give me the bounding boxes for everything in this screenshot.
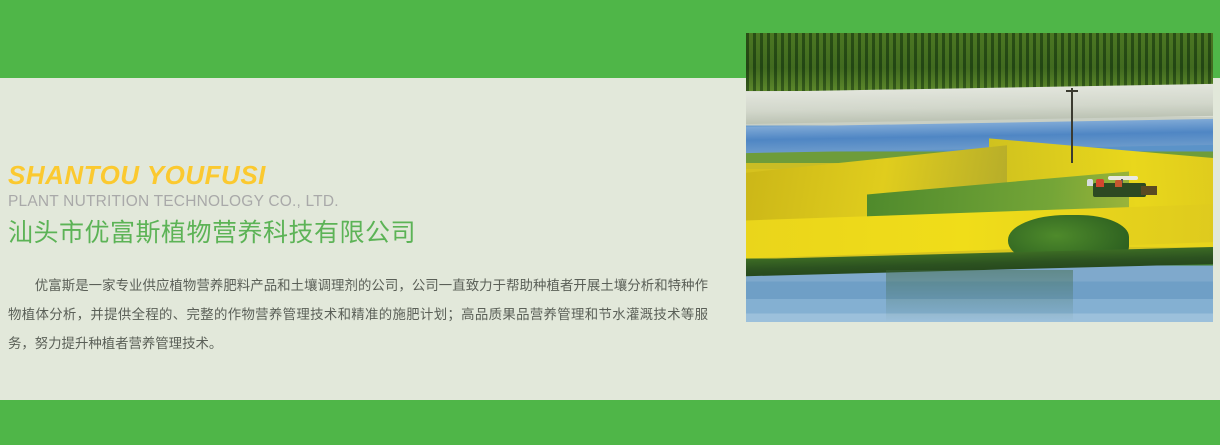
water-reflection <box>886 270 1073 322</box>
brand-subtitle-english: PLANT NUTRITION TECHNOLOGY CO., LTD. <box>0 190 730 212</box>
bottom-green-band <box>0 400 1220 445</box>
utility-pole <box>1071 88 1073 163</box>
worker-figure-c <box>1115 180 1122 187</box>
harvester-trailer <box>1141 186 1157 195</box>
company-intro-column: SHANTOU YOUFUSI PLANT NUTRITION TECHNOLO… <box>0 160 730 358</box>
brand-name-english: SHANTOU YOUFUSI <box>0 160 730 190</box>
treeline-band <box>746 33 1213 91</box>
harvester-with-workers <box>1082 175 1157 201</box>
rice-paddy-photo-frame <box>746 33 1213 322</box>
rice-paddy-landscape-photo <box>746 33 1213 322</box>
page-root: SHANTOU YOUFUSI PLANT NUTRITION TECHNOLO… <box>0 0 1220 445</box>
worker-figure-b <box>1096 179 1103 187</box>
company-intro-paragraph: 优富斯是一家专业供应植物营养肥料产品和土壤调理剂的公司，公司一直致力于帮助种植者… <box>0 249 708 358</box>
worker-figure-a <box>1087 179 1094 186</box>
brand-name-chinese: 汕头市优富斯植物营养科技有限公司 <box>0 212 730 249</box>
